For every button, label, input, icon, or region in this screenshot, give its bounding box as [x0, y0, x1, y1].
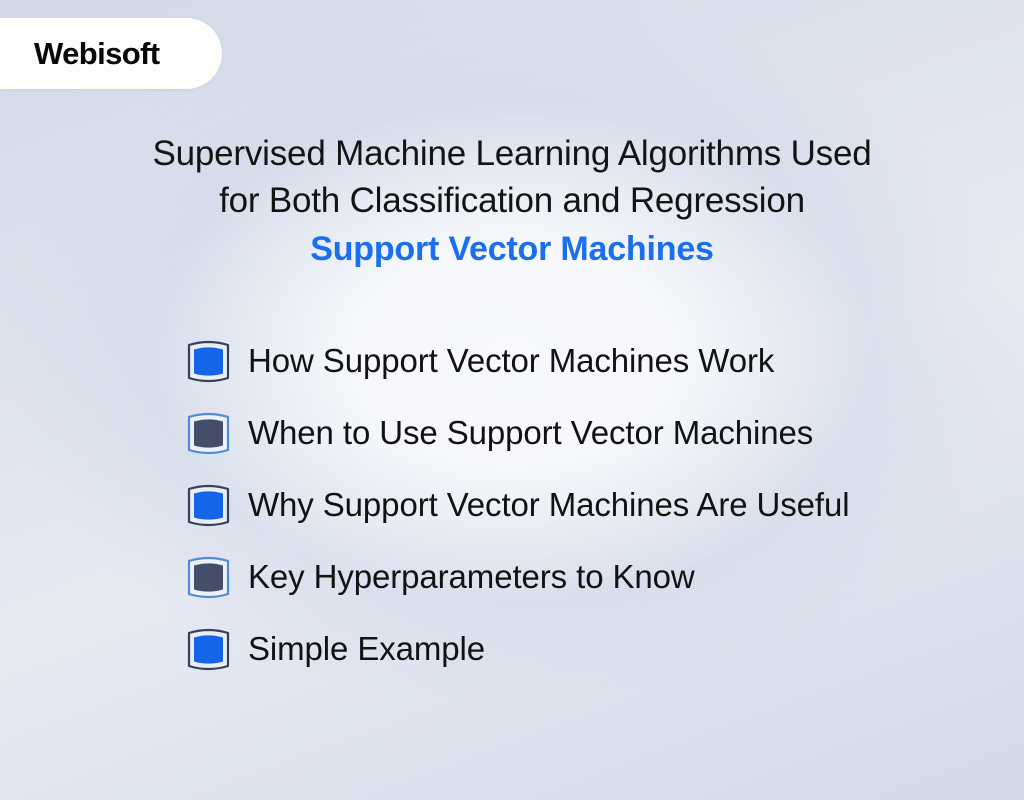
box-icon: [186, 553, 231, 602]
list-item-label: When to Use Support Vector Machines: [248, 414, 813, 452]
box-icon: [186, 481, 231, 530]
list-item[interactable]: How Support Vector Machines Work: [186, 336, 1006, 386]
list-item-label: How Support Vector Machines Work: [248, 342, 774, 380]
title-line-1: Supervised Machine Learning Algorithms U…: [0, 130, 1024, 177]
bullet-list: How Support Vector Machines Work When to…: [186, 336, 1006, 696]
brand-logo-pill: Webisoft: [0, 18, 222, 89]
box-icon: [186, 409, 231, 458]
slide-canvas: Webisoft Supervised Machine Learning Alg…: [0, 0, 1024, 800]
title-accent-subtitle: Support Vector Machines: [0, 224, 1024, 274]
brand-logo-text: Webisoft: [34, 36, 160, 72]
list-item[interactable]: Simple Example: [186, 624, 1006, 674]
list-item[interactable]: When to Use Support Vector Machines: [186, 408, 1006, 458]
list-item-label: Key Hyperparameters to Know: [248, 558, 695, 596]
title-line-2: for Both Classification and Regression: [0, 177, 1024, 224]
page-title: Supervised Machine Learning Algorithms U…: [0, 130, 1024, 274]
list-item[interactable]: Key Hyperparameters to Know: [186, 552, 1006, 602]
list-item-label: Why Support Vector Machines Are Useful: [248, 486, 849, 524]
list-item-label: Simple Example: [248, 630, 485, 668]
list-item[interactable]: Why Support Vector Machines Are Useful: [186, 480, 1006, 530]
box-icon: [186, 337, 231, 386]
box-icon: [186, 625, 231, 674]
